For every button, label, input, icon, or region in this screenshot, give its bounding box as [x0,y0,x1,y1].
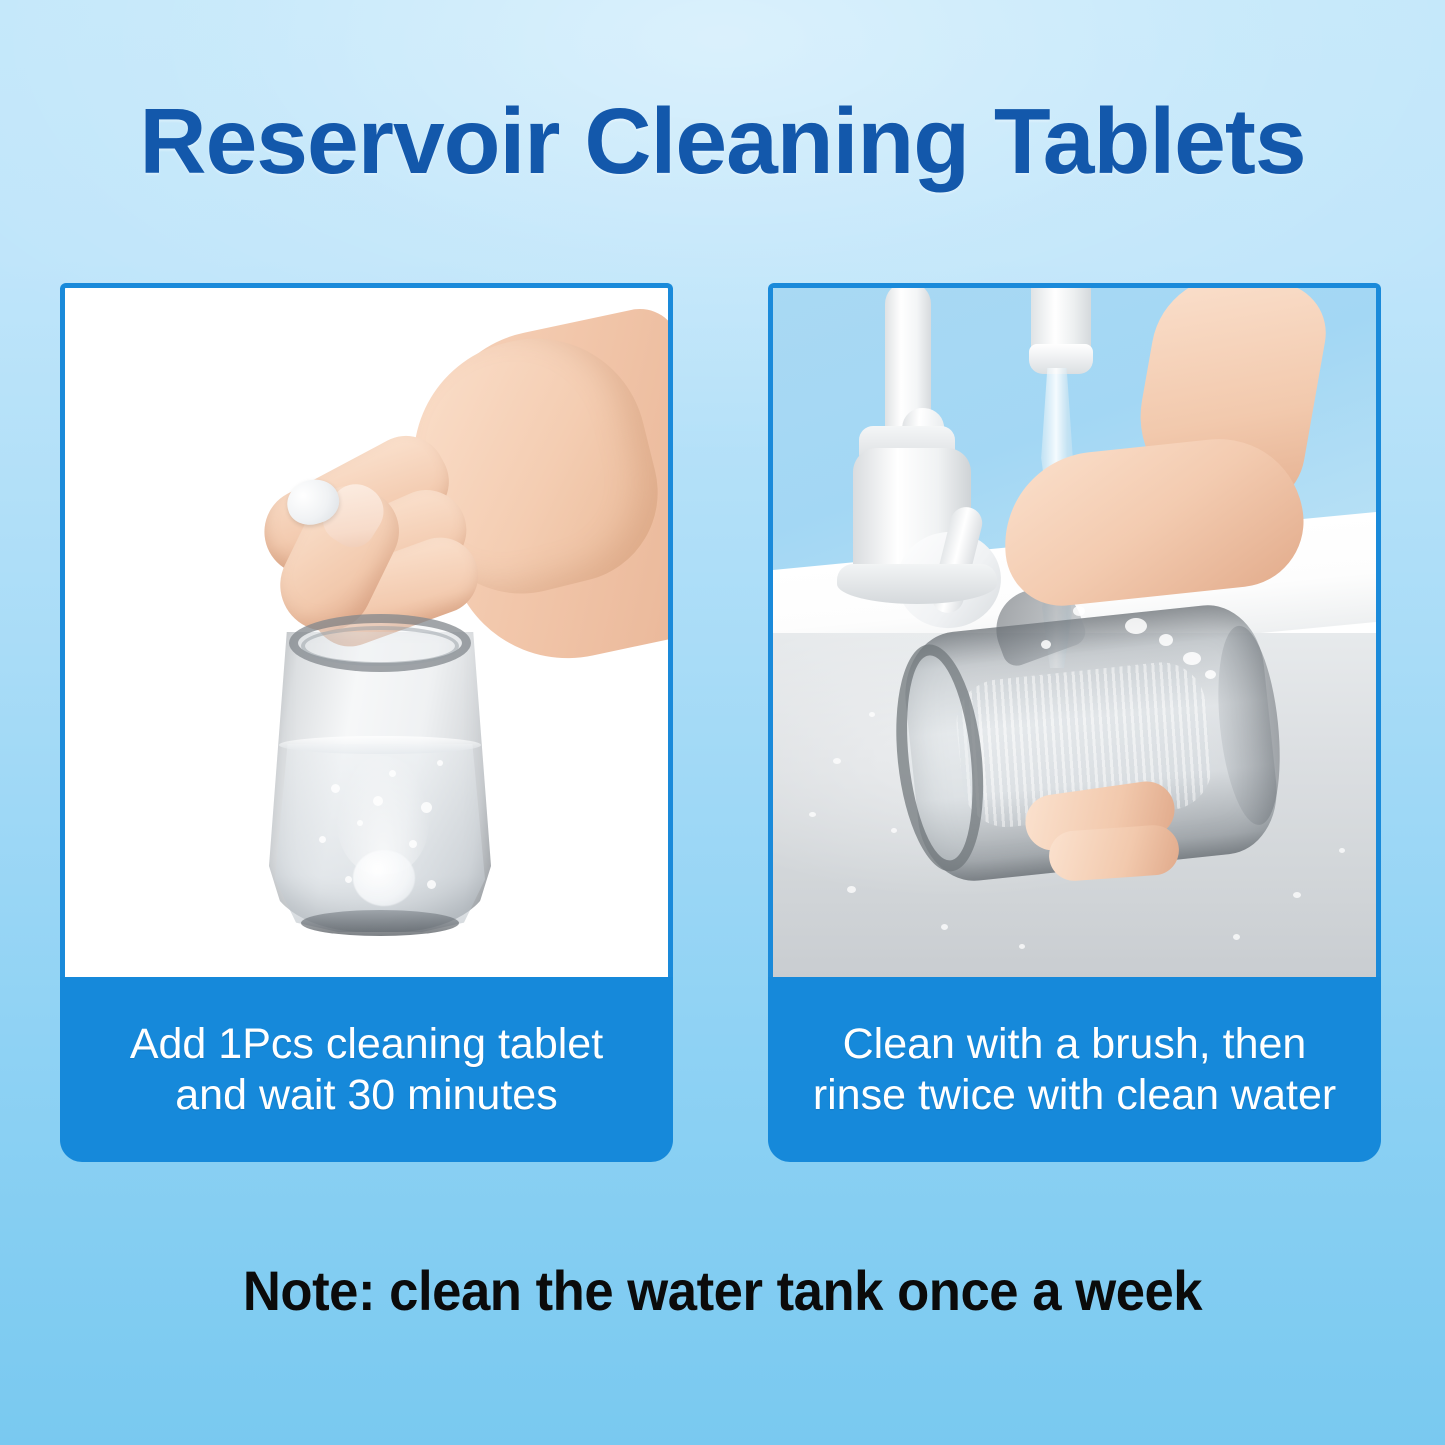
step-1-photo [65,288,668,977]
infographic-root: Reservoir Cleaning Tablets [0,0,1445,1445]
step-1-photo-frame [60,283,673,977]
step-2-caption: Clean with a brush, then rinse twice wit… [768,977,1381,1162]
step-card-1: Add 1Pcs cleaning tablet and wait 30 min… [60,283,673,1162]
bubble [357,820,363,826]
step-1-caption: Add 1Pcs cleaning tablet and wait 30 min… [60,977,673,1162]
bubble [409,840,417,848]
page-title: Reservoir Cleaning Tablets [0,88,1445,195]
sink-droplet [941,924,948,930]
bubble [437,760,443,766]
bubble [331,784,340,793]
sink-droplet [1019,944,1025,949]
step-card-2: Clean with a brush, then rinse twice wit… [768,283,1381,1162]
water-splash [1159,634,1173,646]
sink-droplet [847,886,856,893]
water-splash [1125,618,1147,634]
bubble [319,836,326,843]
sink-droplet [1233,934,1240,940]
hand-lower-thumb [1047,824,1180,883]
sink-droplet [1293,892,1301,898]
water-splash [1041,640,1051,649]
sink-droplet [833,758,841,764]
bubble [373,796,383,806]
step-2-photo-frame [768,283,1381,977]
bubble [389,770,396,777]
reservoir-rim-inner [301,626,459,666]
reservoir-water-line [279,736,481,754]
faucet-foot [837,564,997,604]
step-2-caption-text: Clean with a brush, then rinse twice wit… [813,1019,1336,1120]
water-splash [1073,606,1085,616]
water-reservoir-upright [261,588,499,938]
sink-droplet [809,812,816,817]
sink-droplet [1339,848,1345,853]
step-2-photo [773,288,1376,977]
step-1-caption-text: Add 1Pcs cleaning tablet and wait 30 min… [130,1019,603,1120]
sink-droplet [869,712,875,717]
bubble [427,880,436,889]
bubble [345,876,352,883]
footer-note: Note: clean the water tank once a week [43,1258,1401,1323]
water-splash [1183,652,1201,665]
water-splash [1205,670,1216,679]
sink-droplet [891,828,897,833]
reservoir-base [301,910,459,936]
bubble [421,802,432,813]
cleaning-tablet-dissolving [353,850,415,906]
